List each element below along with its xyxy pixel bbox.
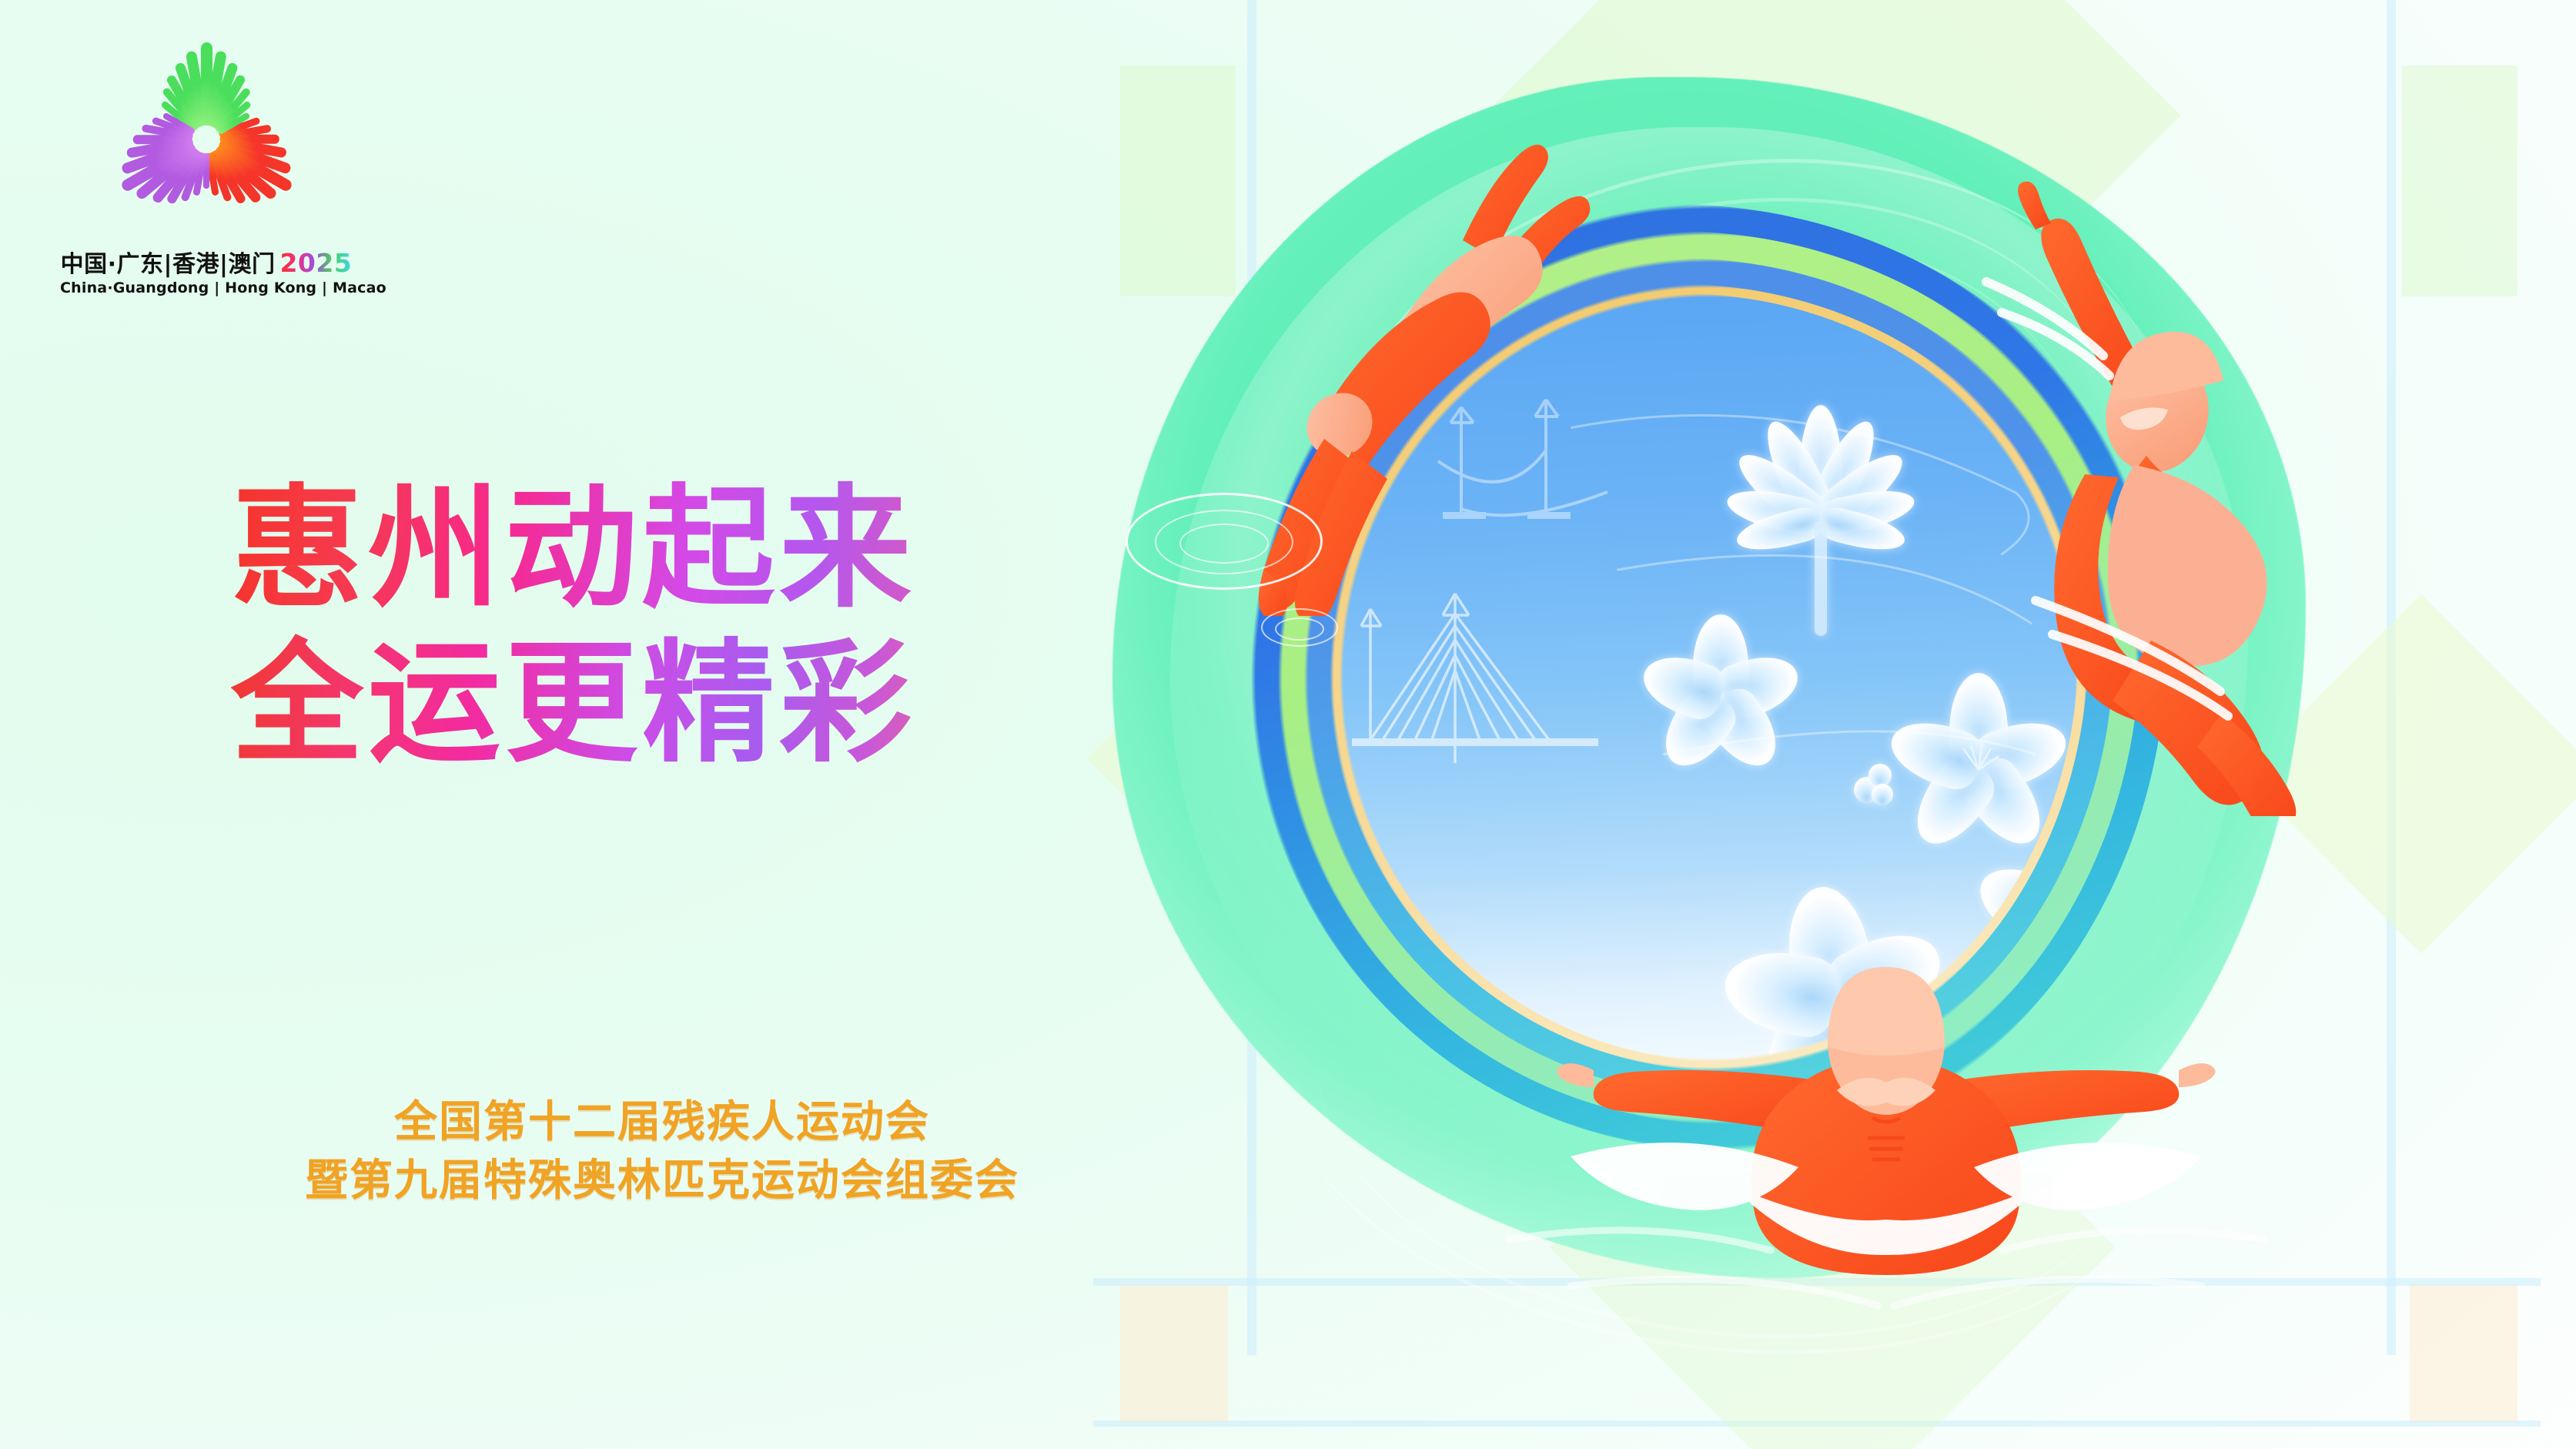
emblem-year: 2025 [279,248,352,278]
organizer-line-2: 暨第九届特殊奥林匹克运动会组委会 [231,1152,1093,1210]
headline-block: 惠州动起来 全运更精彩 [231,471,1139,781]
butterfly-swimmer-athlete [1478,955,2294,1355]
water-ripple-secondary-2 [1275,617,1324,641]
pinwheel-firework-icon [105,37,309,241]
organizer-block: 全国第十二届残疾人运动会 暨第九届特殊奥林匹克运动会组委会 [231,1093,1093,1210]
games-emblem: 中国·广东|香港|澳门2025 China·Guangdong | Hong K… [60,37,353,296]
headline-line-2: 全运更精彩 [231,626,1139,781]
poster-canvas: 中国·广东|香港|澳门2025 China·Guangdong | Hong K… [0,0,2576,1449]
water-ripple-small [1179,524,1269,564]
aquatic-illustration [1078,0,2576,1449]
headline-line-1: 惠州动起来 [231,471,1139,626]
emblem-caption: 中国·广东|香港|澳门2025 China·Guangdong | Hong K… [60,250,353,296]
emblem-caption-cn: 中国·广东|香港|澳门2025 [60,250,353,277]
organizer-line-1: 全国第十二届残疾人运动会 [231,1093,1093,1152]
freestyle-swimmer-athlete [1955,169,2387,816]
emblem-caption-en: China·Guangdong | Hong Kong | Macao [60,279,353,296]
